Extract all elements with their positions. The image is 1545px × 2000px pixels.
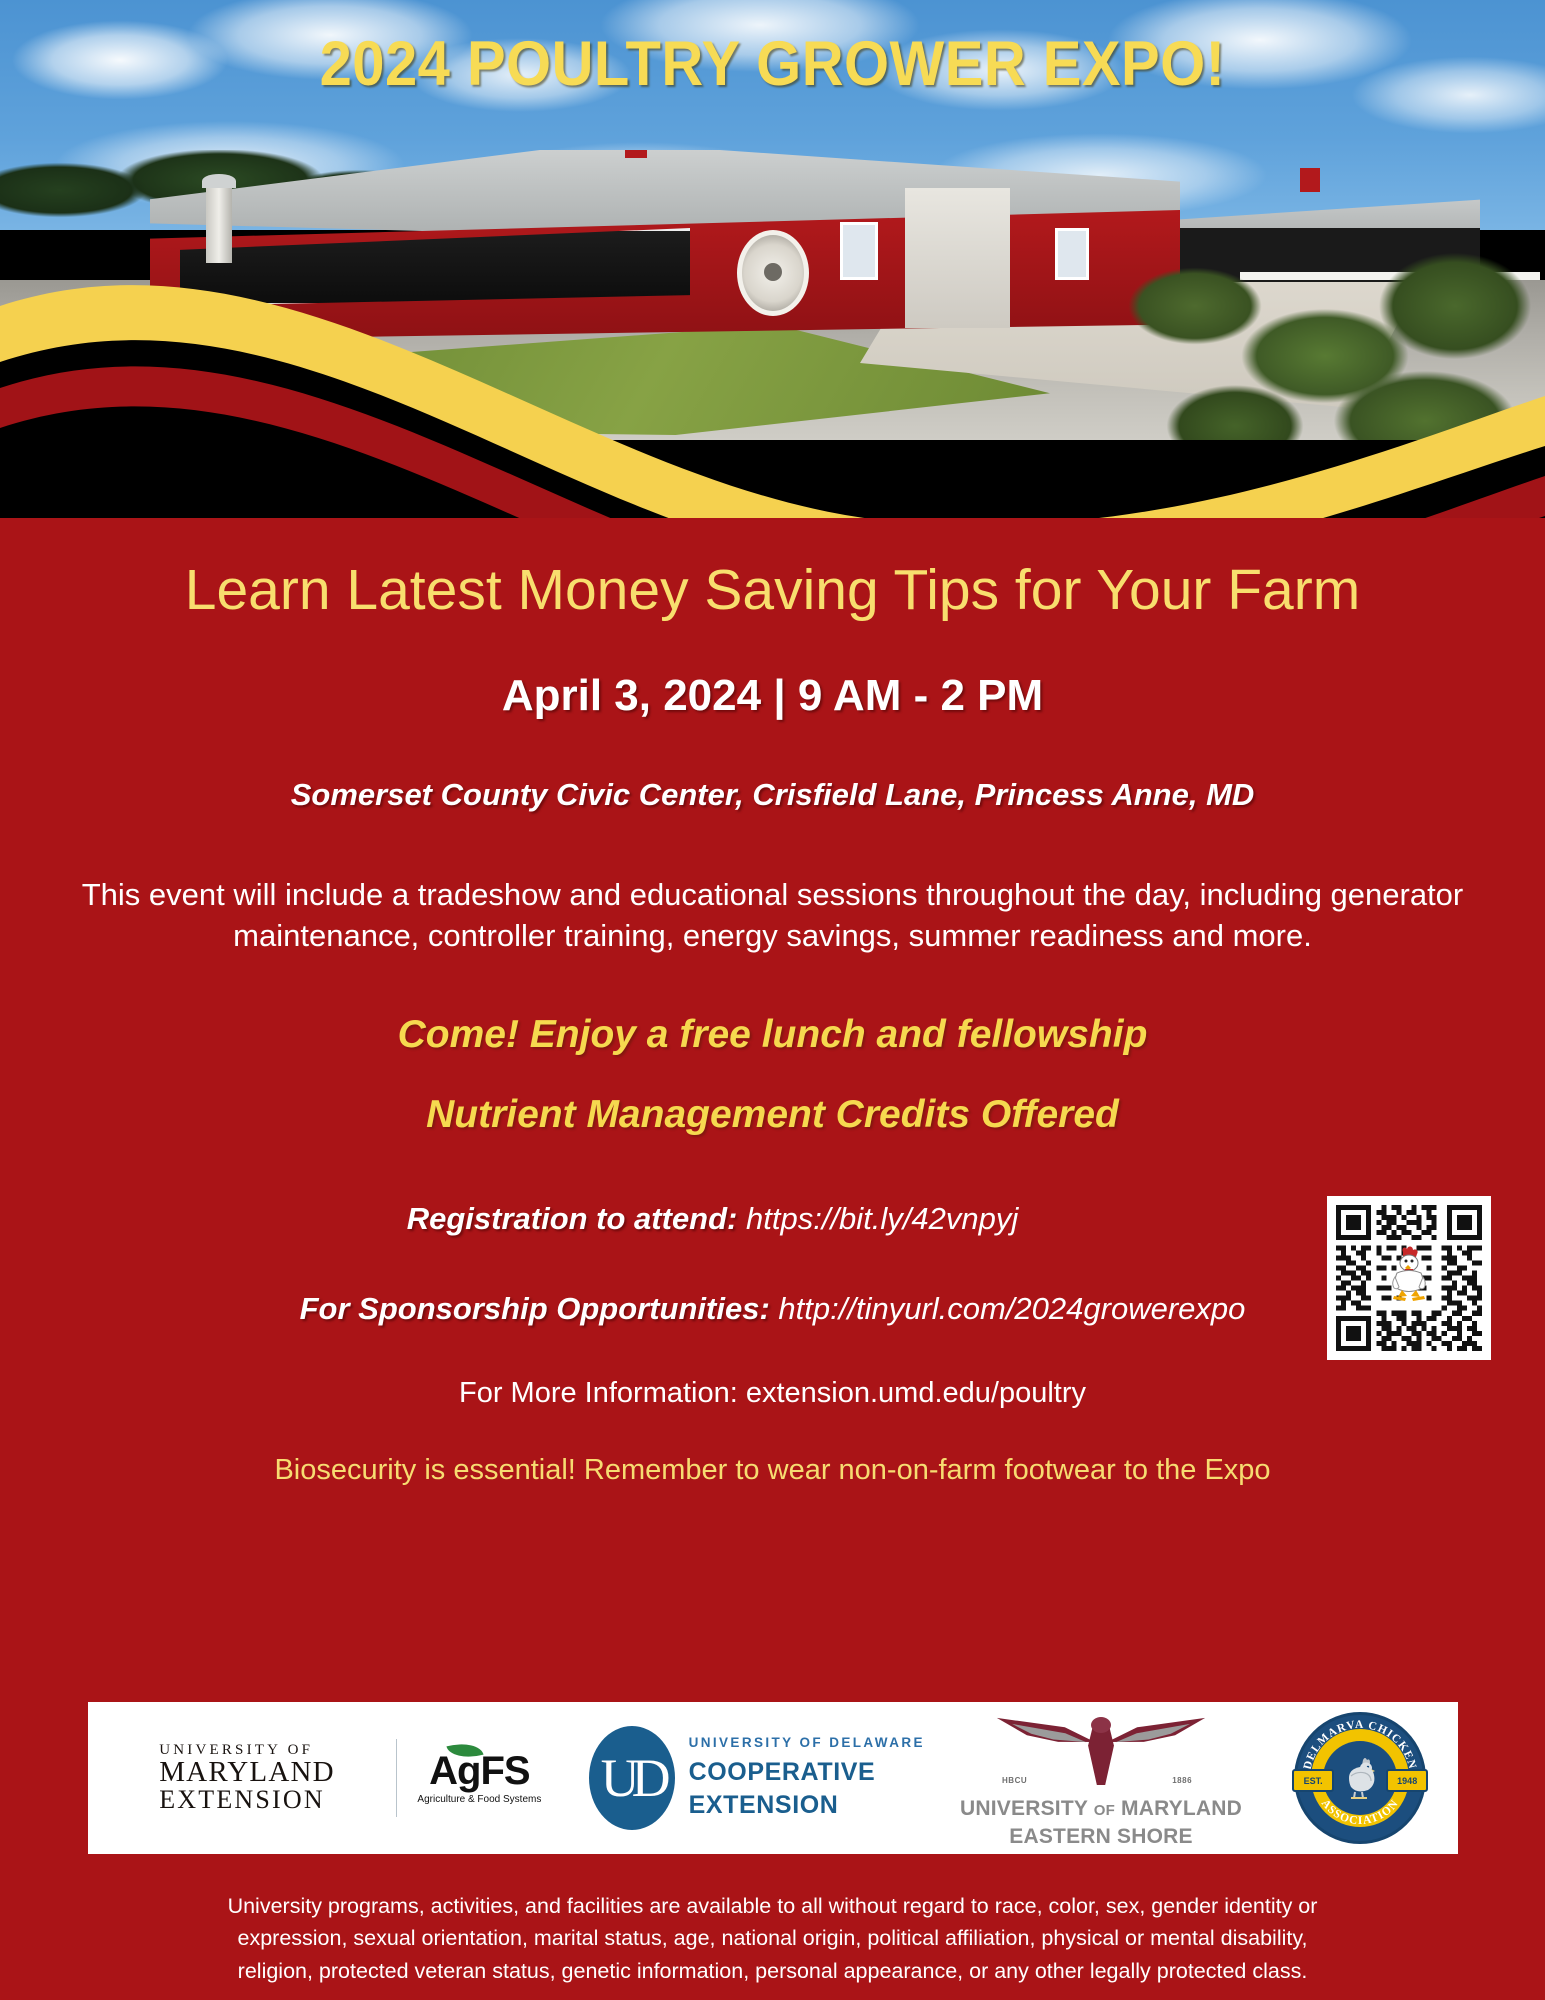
free-lunch-line: Come! Enjoy a free lunch and fellowship	[0, 957, 1545, 1057]
sponsorship-row: For Sponsorship Opportunities: http://ti…	[0, 1237, 1545, 1327]
logo-umd-extension: UNIVERSITY OF MARYLAND EXTENSION	[88, 1702, 382, 1854]
main-content: Learn Latest Money Saving Tips for Your …	[0, 535, 1545, 1487]
logo-ud-cooperative-extension: UD UNIVERSITY OF DELAWARE COOPERATIVE EX…	[548, 1702, 940, 1854]
umd-line-2: MARYLAND	[159, 1758, 335, 1787]
chicken-icon	[1382, 1245, 1436, 1305]
dca-year-label: 1948	[1386, 1769, 1428, 1792]
more-information[interactable]: For More Information: extension.umd.edu/…	[0, 1327, 1545, 1410]
ud-line-3: EXTENSION	[689, 1791, 925, 1821]
umes-line-1: UNIVERSITY OF MARYLAND	[960, 1796, 1242, 1821]
umes-founded-year: 1886	[1172, 1776, 1192, 1785]
agfs-tagline: Agriculture & Food Systems	[417, 1794, 541, 1805]
ud-line-1: UNIVERSITY OF DELAWARE	[689, 1735, 925, 1751]
umes-maryland: MARYLAND	[1121, 1797, 1242, 1820]
ud-monogram-icon: UD	[589, 1726, 675, 1830]
dca-arc-top: DELMARVA CHICKEN	[1302, 1719, 1419, 1771]
roof-cupola-1	[625, 150, 647, 158]
logo-divider	[396, 1739, 397, 1817]
dca-arc-bottom: ASSOCIATION	[1319, 1797, 1401, 1827]
footer-line-2: expression, sexual orientation, marital …	[0, 1922, 1545, 1954]
event-description: This event will include a tradeshow and …	[58, 813, 1488, 957]
sponsorship-label: For Sponsorship Opportunities:	[300, 1291, 770, 1326]
nondiscrimination-footer: University programs, activities, and fac…	[0, 1890, 1545, 1987]
umd-line-3: EXTENSION	[159, 1787, 335, 1813]
footer-line-3: religion, protected veteran status, gene…	[0, 1955, 1545, 1987]
umes-of: OF	[1094, 1802, 1115, 1819]
agfs-mark: AgFS	[417, 1751, 541, 1791]
dca-seal-icon: DELMARVA CHICKEN ASSOCIATION EST. 1948	[1294, 1712, 1426, 1844]
swoosh-graphic	[0, 270, 1545, 535]
banner-bottom-edge	[0, 518, 1545, 535]
svg-text:ASSOCIATION: ASSOCIATION	[1319, 1797, 1401, 1827]
nutrient-credits-line: Nutrient Management Credits Offered	[0, 1057, 1545, 1137]
registration-url[interactable]: https://bit.ly/42vnpyj	[746, 1201, 1018, 1236]
qr-code[interactable]	[1327, 1196, 1491, 1360]
footer-line-1: University programs, activities, and fac…	[0, 1890, 1545, 1922]
registration-label: Registration to attend:	[407, 1201, 738, 1236]
roof-cupola-2	[1300, 168, 1320, 192]
logo-umes: HBCU 1886 UNIVERSITY OF MARYLAND EASTERN…	[940, 1702, 1263, 1854]
umes-line-2: EASTERN SHORE	[960, 1824, 1242, 1849]
banner-header: 2024 POULTRY GROWER EXPO!	[0, 0, 1545, 535]
logo-delmarva-chicken-association: DELMARVA CHICKEN ASSOCIATION EST. 1948	[1262, 1702, 1458, 1854]
svg-text:DELMARVA CHICKEN: DELMARVA CHICKEN	[1302, 1719, 1419, 1771]
event-datetime: April 3, 2024 | 9 AM - 2 PM	[0, 623, 1545, 721]
umes-hbcu-label: HBCU	[1002, 1776, 1027, 1785]
page-title: 2024 POULTRY GROWER EXPO!	[62, 28, 1483, 100]
logo-agfs: AgFS Agriculture & Food Systems	[411, 1702, 548, 1854]
ud-monogram-letters: UD	[589, 1726, 675, 1830]
hawk-icon: HBCU 1886	[996, 1707, 1206, 1791]
dca-est-label: EST.	[1292, 1769, 1334, 1792]
silo-cap	[202, 174, 236, 188]
event-venue: Somerset County Civic Center, Crisfield …	[0, 721, 1545, 813]
silo	[206, 185, 232, 263]
umes-univ: UNIVERSITY	[960, 1797, 1088, 1820]
poster-root: 2024 POULTRY GROWER EXPO! Learn Latest M…	[0, 0, 1545, 2000]
ud-line-2: COOPERATIVE	[689, 1758, 925, 1788]
registration-row: Registration to attend: https://bit.ly/4…	[0, 1137, 1545, 1237]
headline: Learn Latest Money Saving Tips for Your …	[0, 535, 1545, 623]
sponsorship-url[interactable]: http://tinyurl.com/2024growerexpo	[778, 1291, 1245, 1326]
biosecurity-note: Biosecurity is essential! Remember to we…	[0, 1410, 1545, 1487]
sponsor-logo-bar: UNIVERSITY OF MARYLAND EXTENSION AgFS Ag…	[88, 1702, 1458, 1854]
